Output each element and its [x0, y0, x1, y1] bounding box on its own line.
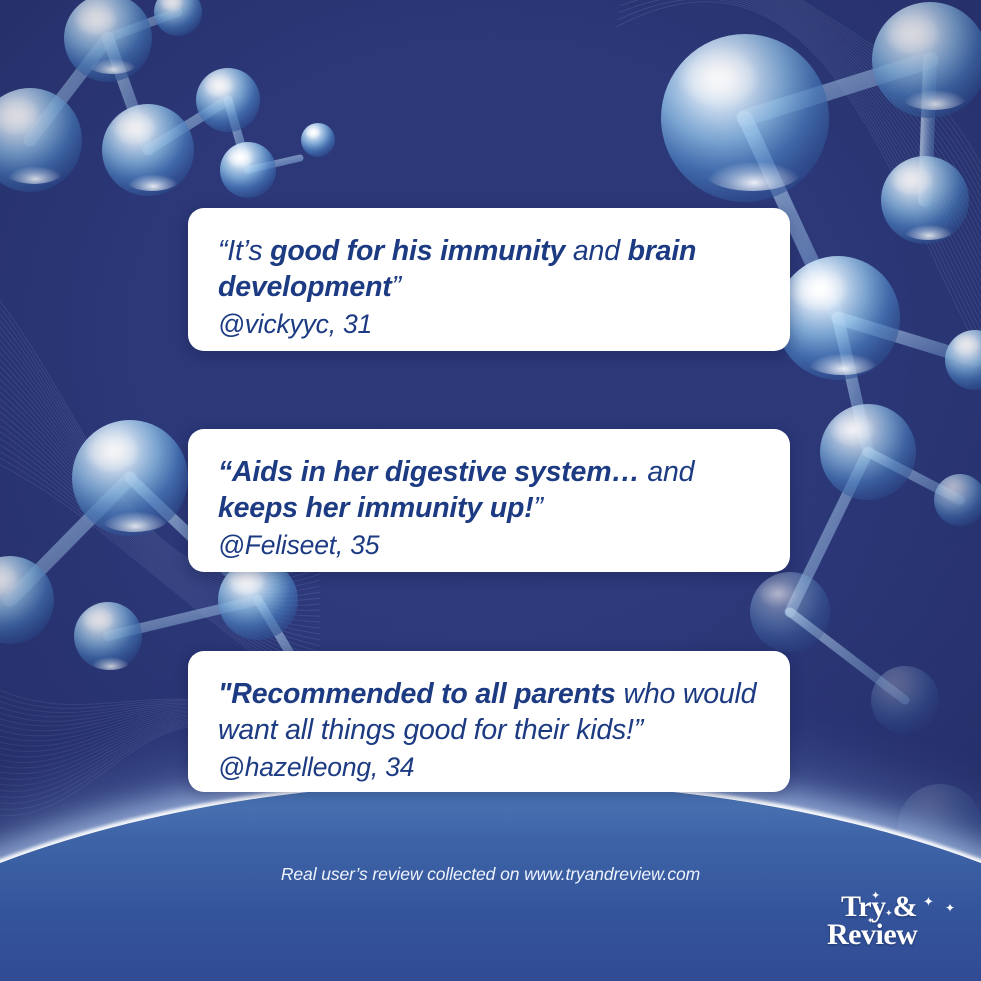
- testimonial-quote: "Recommended to all parents who would wa…: [218, 677, 760, 748]
- testimonial-card: “It’s good for his immunity and brain de…: [188, 208, 790, 351]
- brand-logo: Try & Review ✦ ✦ ✦ ✦ ✦: [827, 893, 955, 948]
- testimonial-quote: “It’s good for his immunity and brain de…: [218, 234, 760, 305]
- brand-logo-line-2: Review: [827, 921, 955, 949]
- testimonial-quote: “Aids in her digestive system… and keeps…: [218, 455, 760, 526]
- testimonial-poster: “It’s good for his immunity and brain de…: [0, 0, 981, 981]
- testimonial-handle: @Feliseet, 35: [218, 530, 760, 561]
- testimonial-handle: @vickyyc, 31: [218, 309, 760, 340]
- sparkle-icon: ✦: [923, 896, 933, 909]
- sparkle-icon: ✦: [945, 902, 955, 914]
- testimonial-card: “Aids in her digestive system… and keeps…: [188, 429, 790, 572]
- testimonial-card-list: “It’s good for his immunity and brain de…: [0, 0, 981, 981]
- testimonial-handle: @hazelleong, 34: [218, 752, 760, 783]
- source-note: Real user’s review collected on www.trya…: [0, 864, 981, 885]
- sparkle-icon: ✦: [885, 910, 892, 919]
- sparkle-icon: ✦: [867, 917, 873, 925]
- sparkle-icon: ✦: [871, 890, 880, 901]
- testimonial-card: "Recommended to all parents who would wa…: [188, 651, 790, 792]
